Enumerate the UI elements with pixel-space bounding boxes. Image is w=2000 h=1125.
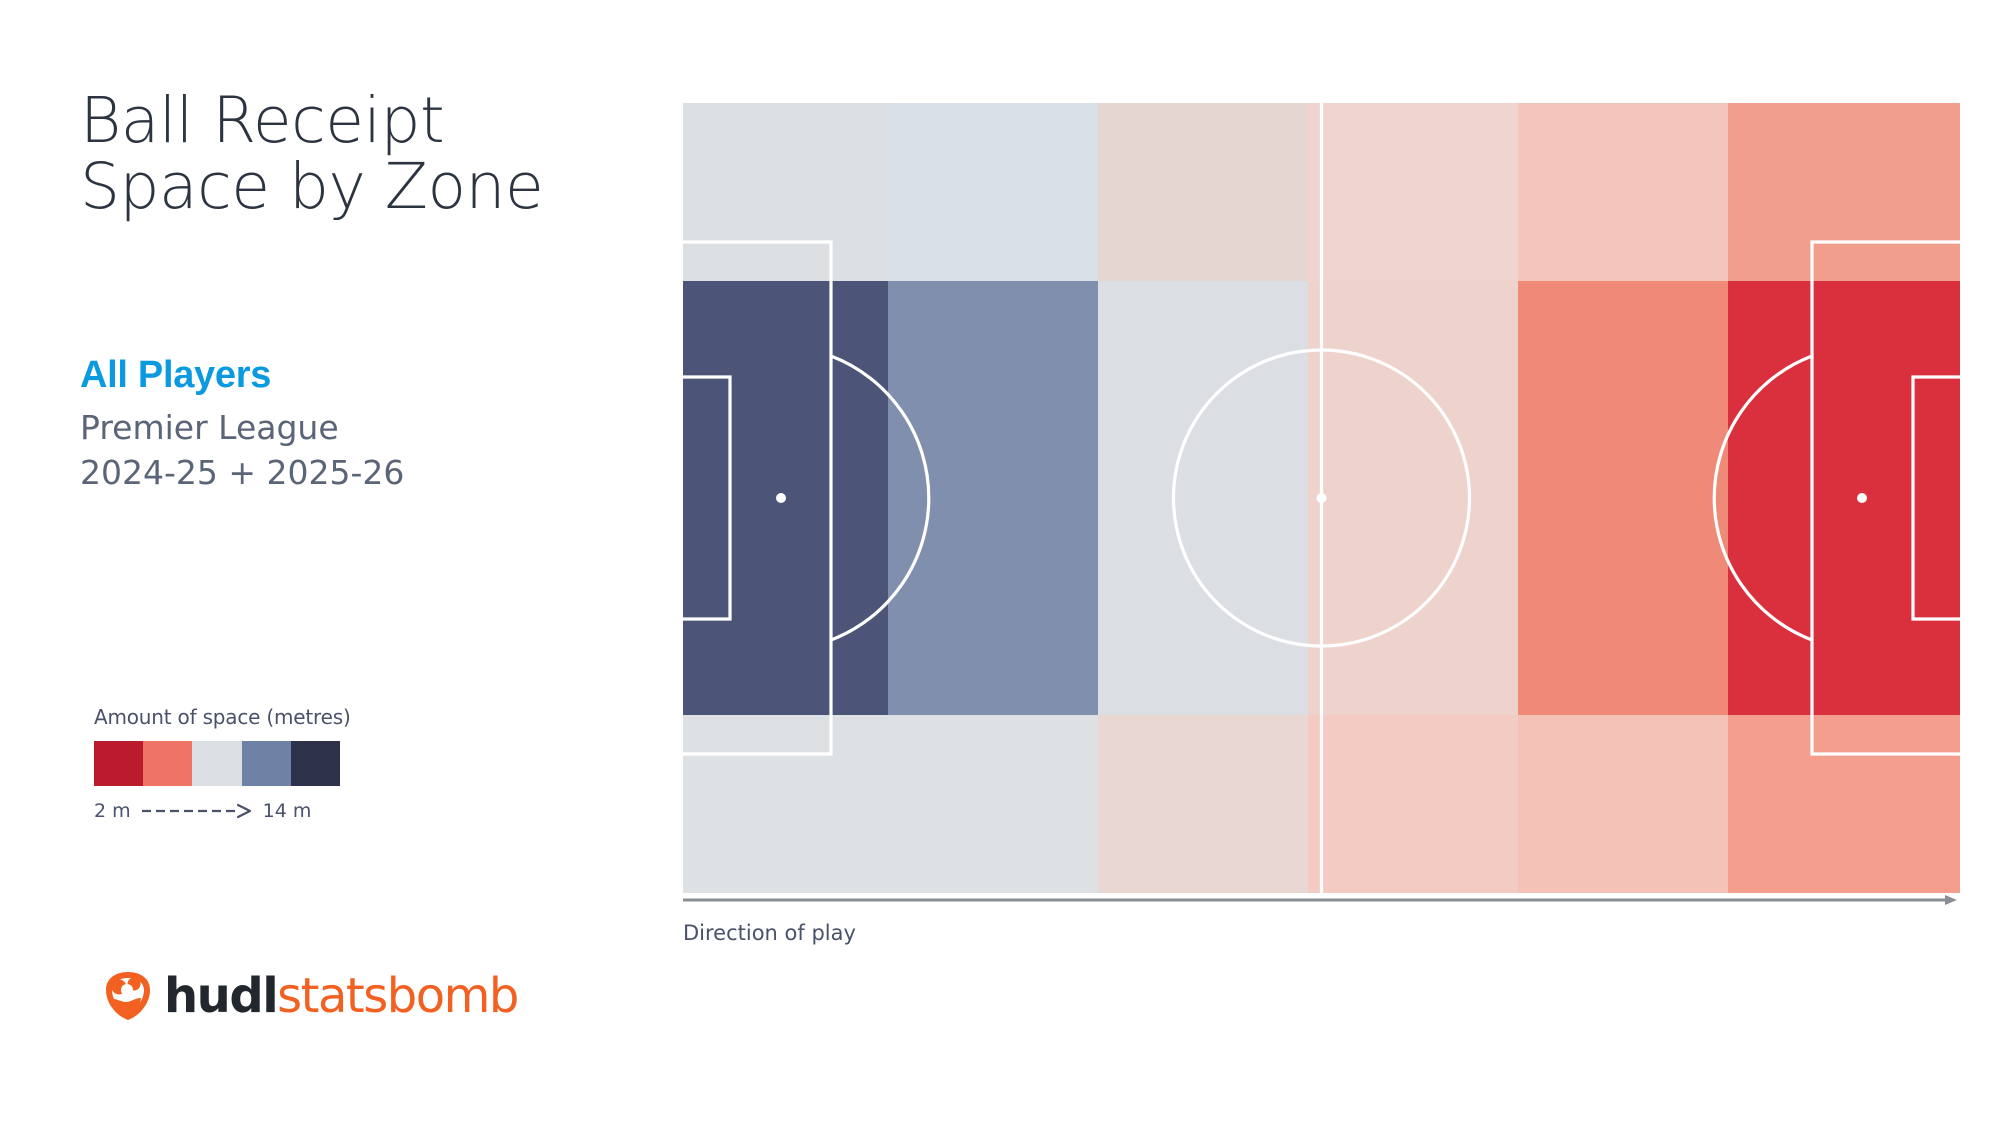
zone-cell[interactable] bbox=[683, 281, 888, 715]
page-title: Ball Receipt Space by Zone bbox=[80, 88, 640, 220]
season-label: 2024-25 + 2025-26 bbox=[80, 450, 600, 496]
legend: Amount of space (metres) 2 m 14 m bbox=[94, 705, 394, 822]
hudl-statsbomb-logo: hudlstatsbomb bbox=[100, 968, 518, 1024]
zone-cell[interactable] bbox=[1728, 103, 1960, 281]
zone-cell[interactable] bbox=[1518, 103, 1728, 281]
left-panel: Ball Receipt Space by Zone All Players P… bbox=[0, 0, 680, 1125]
legend-swatch-4 bbox=[291, 741, 340, 786]
legend-swatch-0 bbox=[94, 741, 143, 786]
legend-scale: 2 m 14 m bbox=[94, 800, 344, 822]
zone-cell[interactable] bbox=[683, 103, 888, 281]
zone-cell[interactable] bbox=[1098, 715, 1308, 893]
zone-cell[interactable] bbox=[683, 715, 888, 893]
infographic-root: Ball Receipt Space by Zone All Players P… bbox=[0, 0, 2000, 1125]
zone-cell[interactable] bbox=[888, 281, 1098, 715]
competition-label: Premier League bbox=[80, 406, 600, 450]
subtitle-block: All Players Premier League 2024-25 + 202… bbox=[80, 352, 600, 496]
legend-colorbar bbox=[94, 741, 340, 786]
legend-swatch-1 bbox=[143, 741, 192, 786]
zone-cell[interactable] bbox=[1308, 715, 1518, 893]
legend-max-label: 14 m bbox=[263, 800, 312, 822]
legend-title: Amount of space (metres) bbox=[94, 705, 394, 729]
zone-cell[interactable] bbox=[1098, 281, 1308, 715]
zone-cell[interactable] bbox=[1308, 103, 1518, 281]
zone-cell[interactable] bbox=[888, 103, 1098, 281]
logo-wordmark: hudlstatsbomb bbox=[164, 971, 518, 1021]
zone-cell[interactable] bbox=[1098, 103, 1308, 281]
zone-cell[interactable] bbox=[1728, 715, 1960, 893]
zone-cell[interactable] bbox=[1308, 281, 1518, 715]
zone-cell[interactable] bbox=[1518, 281, 1728, 715]
legend-swatch-3 bbox=[242, 741, 291, 786]
legend-swatch-2 bbox=[192, 741, 241, 786]
direction-arrow-icon bbox=[683, 893, 1960, 907]
zone-cell[interactable] bbox=[1518, 715, 1728, 893]
zone-cell[interactable] bbox=[1728, 281, 1960, 715]
direction-of-play-label: Direction of play bbox=[683, 921, 1960, 945]
hudl-shield-icon bbox=[100, 968, 156, 1024]
legend-arrow-icon bbox=[141, 803, 259, 819]
zone-cell[interactable] bbox=[888, 715, 1098, 893]
zone-grid bbox=[683, 103, 1960, 893]
direction-of-play: Direction of play bbox=[683, 893, 1960, 945]
legend-min-label: 2 m bbox=[94, 800, 131, 822]
pitch-heatmap bbox=[683, 103, 1960, 893]
logo-hudl-text: hudl bbox=[164, 968, 277, 1024]
logo-statsbomb-text: statsbomb bbox=[277, 968, 518, 1024]
subject-label: All Players bbox=[80, 352, 600, 398]
